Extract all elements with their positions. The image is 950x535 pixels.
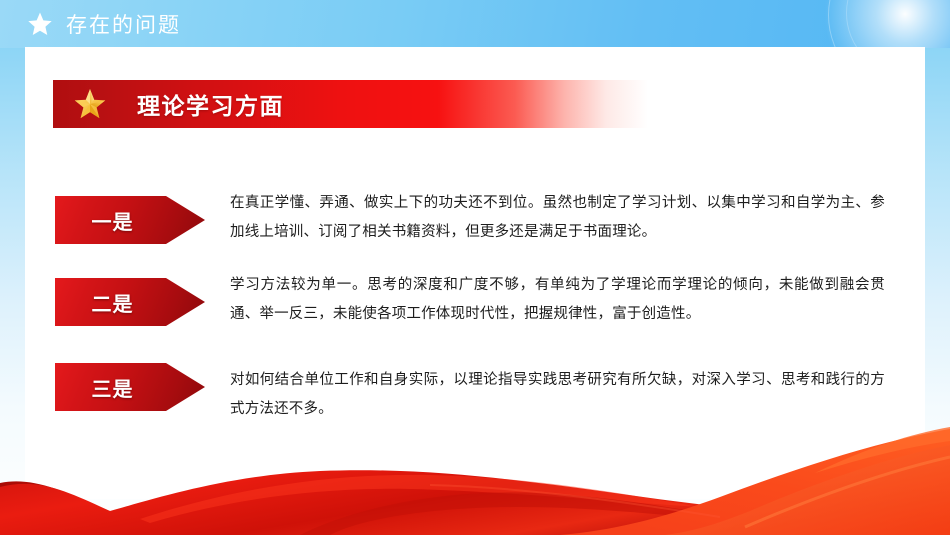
item-text: 学习方法较为单一。思考的深度和广度不够，有单纯为了学理论而学理论的倾向，未能做到… bbox=[230, 271, 885, 329]
item-tag-label: 二是 bbox=[55, 288, 168, 317]
list-item: 三是 对如何结合单位工作和自身实际，以理论指导实践思考研究有所欠缺，对深入学习、… bbox=[25, 354, 925, 414]
page-title: 存在的问题 bbox=[66, 9, 181, 39]
slide: 存在的问题 bbox=[0, 0, 950, 535]
section-heading-bar: 理论学习方面 bbox=[53, 80, 753, 128]
item-text: 对如何结合单位工作和自身实际，以理论指导实践思考研究有所欠缺，对深入学习、思考和… bbox=[230, 366, 885, 424]
list-item: 一是 在真正学懂、弄通、做实上下的功夫还不到位。虽然也制定了学习计划、以集中学习… bbox=[25, 187, 925, 247]
item-tag-label: 一是 bbox=[55, 206, 168, 235]
lens-flare-icon bbox=[828, 0, 950, 48]
section-title: 理论学习方面 bbox=[137, 87, 284, 121]
lens-flare-inner-icon bbox=[846, 0, 950, 48]
gold-star-icon bbox=[73, 87, 107, 121]
item-tag: 一是 bbox=[55, 196, 205, 244]
header-content: 存在的问题 bbox=[27, 0, 181, 48]
header-band: 存在的问题 bbox=[0, 0, 950, 48]
item-text: 在真正学懂、弄通、做实上下的功夫还不到位。虽然也制定了学习计划、以集中学习和自学… bbox=[230, 189, 885, 247]
item-tag: 三是 bbox=[55, 363, 205, 411]
content-card: 理论学习方面 一是 在真正学懂、弄通、做实上下的功夫还不到位。虽然也制定了学习计… bbox=[25, 47, 925, 499]
item-tag-label: 三是 bbox=[55, 373, 168, 402]
list-item: 二是 学习方法较为单一。思考的深度和广度不够，有单纯为了学理论而学理论的倾向，未… bbox=[25, 269, 925, 329]
item-tag: 二是 bbox=[55, 278, 205, 326]
star-icon bbox=[27, 11, 53, 37]
